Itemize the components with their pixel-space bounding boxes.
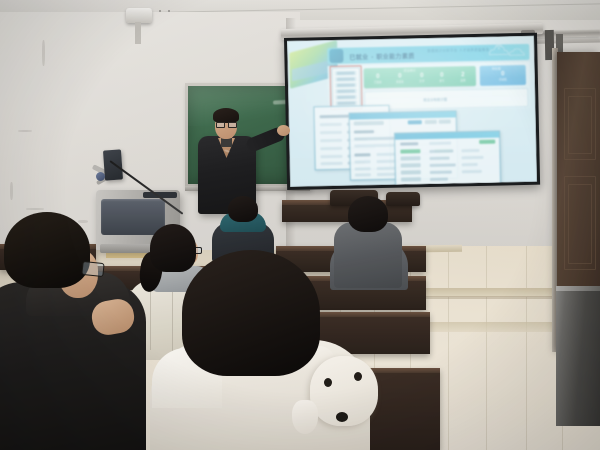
stat-card-3: 0 升学 xyxy=(412,72,432,83)
presenter-hand xyxy=(277,125,290,136)
microphone-head-icon xyxy=(96,172,105,181)
ceiling-fixture-dots xyxy=(150,2,190,10)
app-logo-icon xyxy=(329,49,343,63)
stat-label: 其他 xyxy=(453,79,473,83)
presenter-shirt xyxy=(221,138,232,147)
presenter-glasses-icon xyxy=(216,122,236,126)
stat-card-1: 0 已就业 xyxy=(368,73,388,84)
student-hair xyxy=(348,196,388,232)
chair-back-row-2 xyxy=(386,192,420,206)
metal-cabinet-top xyxy=(556,286,600,291)
slide-content: 已就业 · 职业能力素质 数据统计分析平台 人才培养质量报告 xyxy=(287,36,537,187)
ceiling-speaker-stem xyxy=(135,22,141,44)
projection-screen: 已就业 · 职业能力素质 数据统计分析平台 人才培养质量报告 xyxy=(284,33,540,190)
stat-card-4: 0 参军 xyxy=(432,72,452,83)
metal-cabinet xyxy=(556,286,600,426)
student-hair xyxy=(150,224,196,272)
stat-card-blue-1: 0 待审核 xyxy=(493,71,513,82)
slide-window-record xyxy=(394,130,501,186)
app-title: 已就业 · 职业能力素质 xyxy=(349,51,414,61)
stat-label: 未就业 xyxy=(390,80,410,84)
stat-label: 已就业 xyxy=(368,80,388,84)
ceiling-speaker-icon xyxy=(126,8,152,23)
lectern-front-panel xyxy=(101,199,165,235)
bear-nose-icon xyxy=(336,412,348,422)
blue-stats-panel: 待处理 0 待审核 xyxy=(480,65,526,86)
student-glasses-icon xyxy=(81,261,104,277)
stat-label: 升学 xyxy=(412,79,432,83)
green-stats-panel: 就业统计 0 已就业 0 未就业 0 升学 0 参军 xyxy=(364,66,476,88)
student-hair xyxy=(182,250,320,376)
stat-label: 参军 xyxy=(432,79,452,83)
chart-placeholder-label: 就业分布统计图 xyxy=(423,96,447,101)
presenter-hair xyxy=(213,108,239,123)
stat-card-2: 0 未就业 xyxy=(390,73,410,84)
student-hair xyxy=(228,196,258,222)
stat-card-5: 2 其他 xyxy=(453,72,473,83)
sidebar-highlight-box xyxy=(330,65,363,110)
student-hair xyxy=(4,212,90,288)
classroom-photo: 已就业 · 职业能力素质 数据统计分析平台 人才培养质量报告 xyxy=(0,0,600,450)
cloud-wifi-doodle-icon xyxy=(485,42,529,60)
bear-paw-icon xyxy=(292,400,318,434)
projected-slide: 已就业 · 职业能力素质 数据统计分析平台 人才培养质量报告 xyxy=(287,36,537,187)
stat-label: 待审核 xyxy=(493,78,513,82)
